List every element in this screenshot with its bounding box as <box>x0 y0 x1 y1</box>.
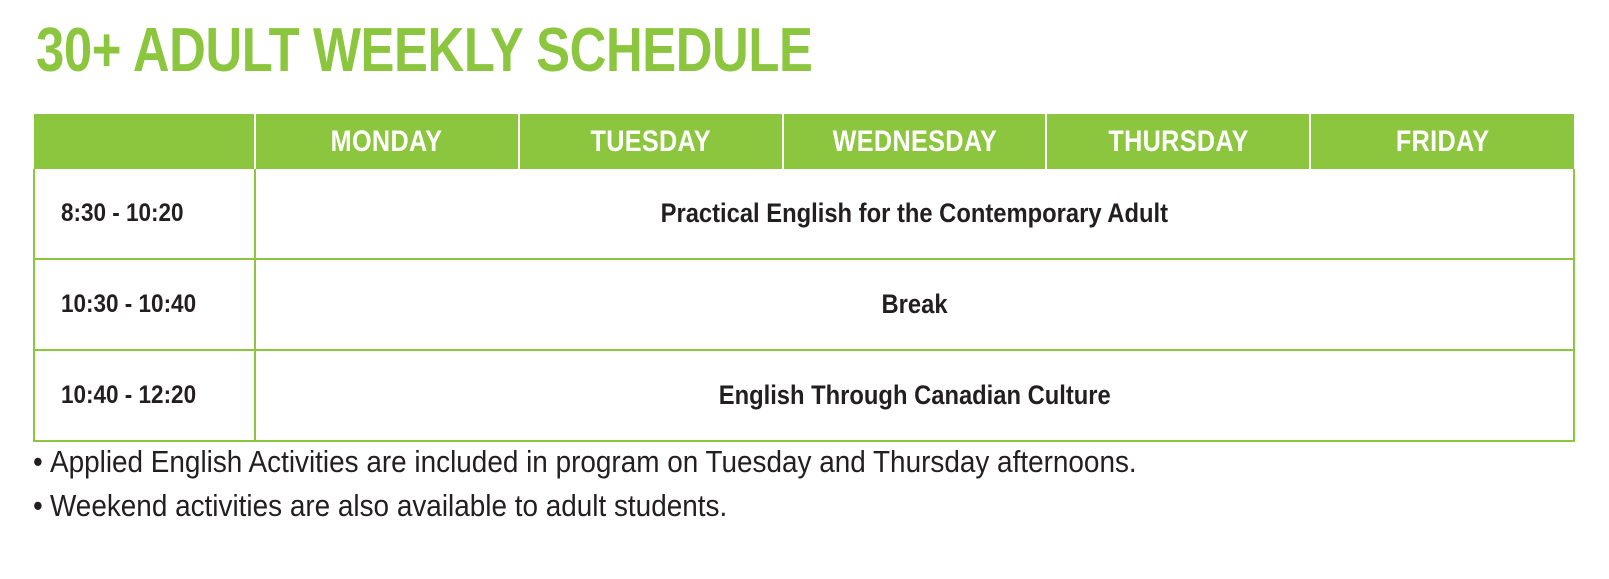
weekly-schedule-table: MONDAY TUESDAY WEDNESDAY THURSDAY FRIDAY <box>33 114 1575 442</box>
header-day-thursday: THURSDAY <box>1046 114 1310 169</box>
notes-list: •Applied English Activities are included… <box>33 440 1593 528</box>
table-row: 10:30 - 10:40 Break <box>34 259 1574 350</box>
session-cell-1: Practical English for the Contemporary A… <box>255 169 1574 259</box>
note-item-2-inner: •Weekend activities are also available t… <box>33 484 727 528</box>
time-slot-label-2: 10:30 - 10:40 <box>61 290 196 319</box>
time-slot-label-3: 10:40 - 12:20 <box>61 381 196 410</box>
page-title: 30+ ADULT WEEKLY SCHEDULE <box>36 14 813 88</box>
header-day-wednesday-label: WEDNESDAY <box>832 125 997 159</box>
note-item-1-inner: •Applied English Activities are included… <box>33 440 1137 484</box>
header-day-monday: MONDAY <box>255 114 519 169</box>
time-slot-cell-1: 8:30 - 10:20 <box>34 169 255 259</box>
header-day-friday-label: FRIDAY <box>1396 125 1490 159</box>
time-slot-label-1: 8:30 - 10:20 <box>61 199 184 228</box>
header-day-monday-label: MONDAY <box>331 125 443 159</box>
table-row: 10:40 - 12:20 English Through Canadian C… <box>34 350 1574 441</box>
header-row: MONDAY TUESDAY WEDNESDAY THURSDAY FRIDAY <box>34 114 1574 169</box>
schedule-page: 30+ ADULT WEEKLY SCHEDULE MONDAY TUESDAY… <box>0 0 1609 579</box>
note-item-2-text: Weekend activities are also available to… <box>50 488 727 523</box>
note-item-1: •Applied English Activities are included… <box>33 440 1593 484</box>
table-body: 8:30 - 10:20 Practical English for the C… <box>34 169 1574 441</box>
header-day-friday: FRIDAY <box>1310 114 1574 169</box>
session-label-3: English Through Canadian Culture <box>718 380 1110 411</box>
table-header: MONDAY TUESDAY WEDNESDAY THURSDAY FRIDAY <box>34 114 1574 169</box>
note-item-1-text: Applied English Activities are included … <box>50 444 1137 479</box>
header-day-tuesday-label: TUESDAY <box>590 125 710 159</box>
session-label-2: Break <box>881 289 947 320</box>
header-day-wednesday: WEDNESDAY <box>783 114 1047 169</box>
session-cell-3: English Through Canadian Culture <box>255 350 1574 441</box>
session-cell-2: Break <box>255 259 1574 350</box>
header-corner-cell <box>34 114 255 169</box>
time-slot-cell-2: 10:30 - 10:40 <box>34 259 255 350</box>
time-slot-cell-3: 10:40 - 12:20 <box>34 350 255 441</box>
note-item-2: •Weekend activities are also available t… <box>33 484 1593 528</box>
bullet-icon-2: • <box>33 484 43 528</box>
header-day-thursday-label: THURSDAY <box>1108 125 1248 159</box>
session-label-1: Practical English for the Contemporary A… <box>661 198 1168 229</box>
bullet-icon-1: • <box>33 440 43 484</box>
header-day-tuesday: TUESDAY <box>519 114 783 169</box>
table-row: 8:30 - 10:20 Practical English for the C… <box>34 169 1574 259</box>
